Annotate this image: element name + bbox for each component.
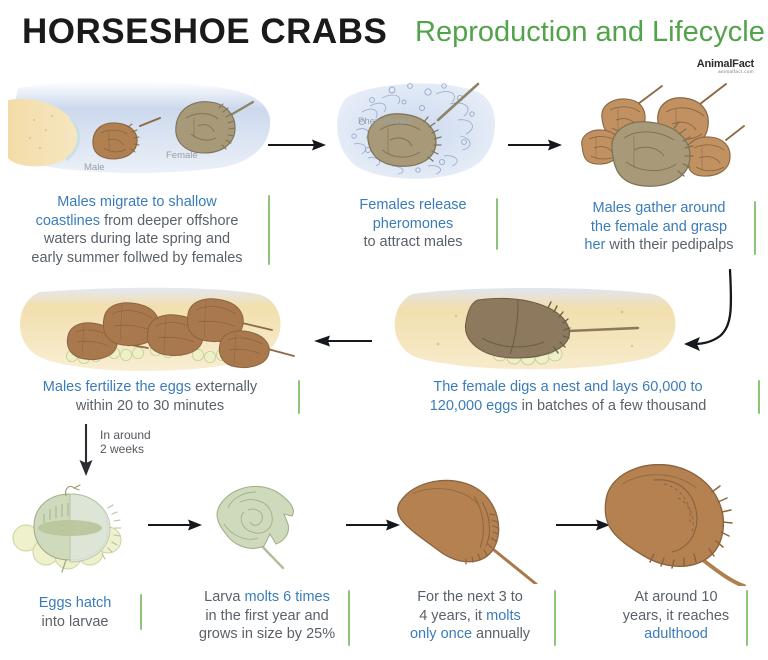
step-9-illustration <box>592 464 768 586</box>
caption-line: molts 6 times <box>244 589 329 605</box>
page-subtitle: Reproduction and Lifecycle <box>415 16 765 49</box>
male-crab-shape <box>219 331 294 368</box>
label-male: Male <box>84 162 105 173</box>
caption-line: within 20 to 30 minutes <box>76 398 224 414</box>
step-2-caption: Females release pheromones to attract ma… <box>332 188 494 252</box>
beach-scene-illustration <box>8 78 276 183</box>
caption-line: At around 10 <box>634 589 717 605</box>
step-3-caption: Males gather around the female and grasp… <box>566 193 752 255</box>
caption-line: only once <box>410 626 472 642</box>
step-9-adulthood: At around 10 years, it reaches adulthood <box>592 464 768 652</box>
caption-line: in batches of a few thousand <box>518 398 707 414</box>
caption-accent-bar <box>348 590 351 646</box>
larva-shape <box>217 486 293 568</box>
caption-accent-bar <box>758 380 761 414</box>
step-7-illustration <box>188 474 354 584</box>
adult-crab-shape <box>605 465 744 586</box>
label-pheromones: Pheromones <box>358 116 412 127</box>
caption-line: from deeper offshore <box>100 213 238 229</box>
annotation-line: 2 weeks <box>100 442 151 456</box>
step-1-migration: Male Female Males migrate to shallow coa… <box>8 78 276 268</box>
caption-line: into larvae <box>42 614 109 630</box>
step-7-larva-molts: Larva molts 6 times in the first year an… <box>188 474 354 652</box>
female-laying-eggs-illustration <box>382 286 762 374</box>
arrow-step2-to-step3 <box>508 132 566 158</box>
caption-line: Larva <box>204 589 244 605</box>
caption-line: waters during late spring and <box>44 231 230 247</box>
header: HORSESHOE CRABS Reproduction and Lifecyc… <box>0 0 768 60</box>
caption-line: pheromones <box>373 216 454 232</box>
step-4-nest: The female digs a nest and lays 60,000 t… <box>382 286 762 416</box>
males-gathering-illustration <box>566 78 762 193</box>
step-2-pheromones: Pheromones Females release pheromones to… <box>332 78 504 268</box>
caption-line: Males gather around <box>593 200 726 216</box>
step-6-caption: Eggs hatch into larvae <box>4 584 146 631</box>
arrow-step5-to-step6 <box>74 424 102 478</box>
males-fertilizing-illustration <box>6 286 302 374</box>
step-7-caption: Larva molts 6 times in the first year an… <box>188 584 346 644</box>
infographic-canvas: HORSESHOE CRABS Reproduction and Lifecyc… <box>0 0 768 660</box>
page-title: HORSESHOE CRABS <box>22 12 387 52</box>
caption-line: in the first year and <box>205 608 328 624</box>
caption-line: externally <box>191 379 257 395</box>
step-5-caption: Males fertilize the eggs externally with… <box>6 374 294 415</box>
step-2-illustration: Pheromones <box>332 78 504 188</box>
caption-accent-bar <box>268 195 271 265</box>
brand-logo-sub: animalfact.com <box>718 69 754 74</box>
caption-line: her <box>584 237 605 253</box>
step-3-illustration <box>566 78 762 193</box>
juvenile-crab-shape <box>398 480 536 584</box>
step-4-caption: The female digs a nest and lays 60,000 t… <box>382 374 754 415</box>
caption-line: 120,000 eggs <box>430 398 518 414</box>
step-4-illustration <box>382 286 762 374</box>
caption-accent-bar <box>554 590 557 646</box>
label-female: Female <box>166 150 198 161</box>
adult-crab-illustration <box>592 464 768 586</box>
caption-accent-bar <box>496 198 499 250</box>
caption-accent-bar <box>746 590 749 646</box>
caption-line: The female digs a nest and lays 60,000 t… <box>433 379 702 395</box>
caption-line: Eggs hatch <box>39 595 112 611</box>
annotation-line: In around <box>100 428 151 442</box>
caption-accent-bar <box>754 201 757 255</box>
eggs-hatching-illustration <box>4 474 154 584</box>
caption-line: early summer follwed by females <box>31 250 242 266</box>
step-1-caption: Males migrate to shallow coastlines from… <box>8 183 266 267</box>
step-5-fertilize: Males fertilize the eggs externally with… <box>6 286 302 416</box>
caption-line: coastlines <box>36 213 100 229</box>
step-8-caption: For the next 3 to 4 years, it molts only… <box>386 584 554 644</box>
caption-line: adulthood <box>644 626 708 642</box>
caption-line: annually <box>472 626 530 642</box>
arrow-step1-to-step2 <box>268 132 330 158</box>
step-8-illustration <box>386 474 562 584</box>
caption-line: the female and grasp <box>591 219 727 235</box>
caption-line: Males fertilize the eggs <box>43 379 191 395</box>
arrow-step4-to-step5 <box>310 328 372 354</box>
caption-accent-bar <box>140 594 143 630</box>
step-9-caption: At around 10 years, it reaches adulthood <box>592 586 760 644</box>
caption-line: to attract males <box>363 234 462 250</box>
caption-line: molts <box>486 608 521 624</box>
juvenile-crab-illustration <box>386 474 562 584</box>
step-1-illustration: Male Female <box>8 78 276 183</box>
caption-line: For the next 3 to <box>417 589 523 605</box>
step-6-illustration <box>4 474 154 584</box>
caption-line: Males migrate to shallow <box>57 194 217 210</box>
larva-illustration <box>188 474 354 584</box>
caption-line: 4 years, it <box>419 608 486 624</box>
caption-accent-bar <box>298 380 301 414</box>
step-5-illustration <box>6 286 302 374</box>
step-3-grasp: Males gather around the female and grasp… <box>566 78 762 268</box>
annotation-two-weeks: In around 2 weeks <box>100 428 151 456</box>
caption-line: years, it reaches <box>623 608 729 624</box>
pheromone-release-illustration <box>332 78 504 188</box>
step-8-annual-molt: For the next 3 to 4 years, it molts only… <box>386 474 562 652</box>
caption-line: Females release <box>359 197 466 213</box>
caption-line: with their pedipalps <box>605 237 733 253</box>
step-6-hatch: Eggs hatch into larvae <box>4 474 154 652</box>
caption-line: grows in size by 25% <box>199 626 335 642</box>
